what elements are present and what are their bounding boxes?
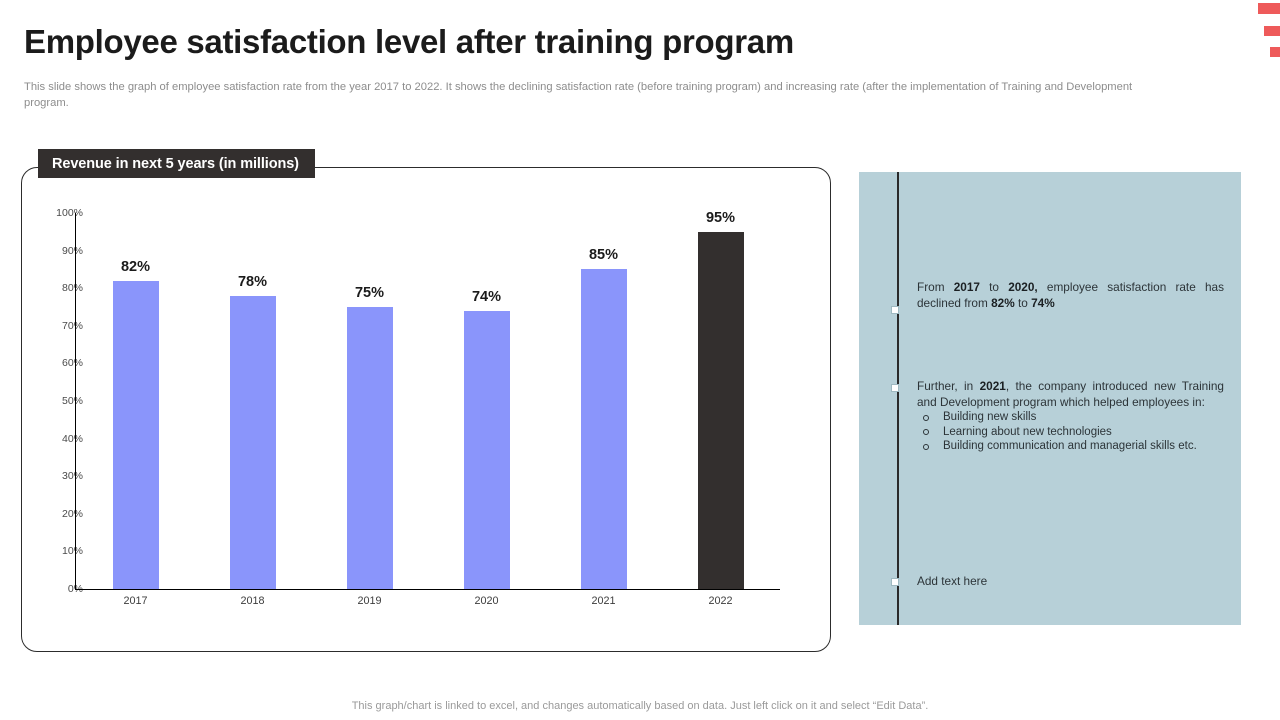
bar-slot: 95% <box>662 213 779 589</box>
page-subtitle: This slide shows the graph of employee s… <box>24 79 1154 111</box>
insight-note-2-text: Further, in 2021, the company introduced… <box>917 379 1224 410</box>
bar-value-label: 95% <box>662 210 779 226</box>
footer-note: This graph/chart is linked to excel, and… <box>0 700 1280 712</box>
x-axis-labels: 201720182019202020212022 <box>77 595 779 607</box>
x-axis-tick-label: 2022 <box>662 595 779 607</box>
bar-slot: 78% <box>194 213 311 589</box>
corner-mark-2 <box>1264 26 1280 36</box>
bar[interactable] <box>464 311 510 589</box>
x-axis-tick-label: 2017 <box>77 595 194 607</box>
x-axis-tick-label: 2019 <box>311 595 428 607</box>
bar-value-label: 75% <box>311 285 428 301</box>
insights-panel: From 2017 to 2020, employee satisfaction… <box>859 172 1241 625</box>
bar-chart[interactable]: 100%90%80%70%60%50%40%30%20%10%0% 82%78%… <box>21 167 831 652</box>
page-title: Employee satisfaction level after traini… <box>24 22 1204 62</box>
insight-note-1: From 2017 to 2020, employee satisfaction… <box>879 280 1224 311</box>
bar-value-label: 74% <box>428 289 545 305</box>
insight-sub-item: Learning about new technologies <box>917 425 1224 440</box>
bar[interactable] <box>581 269 627 589</box>
insight-note-2: Further, in 2021, the company introduced… <box>879 379 1224 454</box>
x-axis-tick-label: 2021 <box>545 595 662 607</box>
corner-mark-3 <box>1270 47 1280 57</box>
insight-note-1-text: From 2017 to 2020, employee satisfaction… <box>917 280 1224 311</box>
insight-sub-item-label: Learning about new technologies <box>943 426 1112 438</box>
corner-mark-1 <box>1258 3 1280 14</box>
circle-bullet-icon <box>923 444 929 450</box>
bullet-marker-icon <box>891 306 899 314</box>
insight-sub-item-label: Building new skills <box>943 411 1036 423</box>
insight-note-3[interactable]: Add text here <box>879 574 1224 590</box>
x-axis-tick-label: 2018 <box>194 595 311 607</box>
corner-decoration <box>1250 0 1280 70</box>
bar-series: 82%78%75%74%85%95% <box>77 213 779 589</box>
x-axis-tick-label: 2020 <box>428 595 545 607</box>
bar-slot: 75% <box>311 213 428 589</box>
circle-bullet-icon <box>923 429 929 435</box>
insight-sub-item: Building communication and managerial sk… <box>917 439 1224 454</box>
bar-slot: 85% <box>545 213 662 589</box>
circle-bullet-icon <box>923 415 929 421</box>
bar-value-label: 85% <box>545 247 662 263</box>
insight-sub-item-label: Building communication and managerial sk… <box>943 440 1197 452</box>
bar[interactable] <box>698 232 744 589</box>
insight-note-3-text: Add text here <box>917 574 1224 590</box>
bar[interactable] <box>113 281 159 589</box>
insight-sub-item: Building new skills <box>917 410 1224 425</box>
bullet-marker-icon <box>891 578 899 586</box>
bar-slot: 74% <box>428 213 545 589</box>
bar[interactable] <box>347 307 393 589</box>
bar[interactable] <box>230 296 276 589</box>
x-axis-line <box>75 589 780 590</box>
bar-value-label: 82% <box>77 259 194 275</box>
bar-value-label: 78% <box>194 274 311 290</box>
bullet-marker-icon <box>891 384 899 392</box>
insight-note-2-sublist: Building new skillsLearning about new te… <box>879 410 1224 454</box>
bar-slot: 82% <box>77 213 194 589</box>
